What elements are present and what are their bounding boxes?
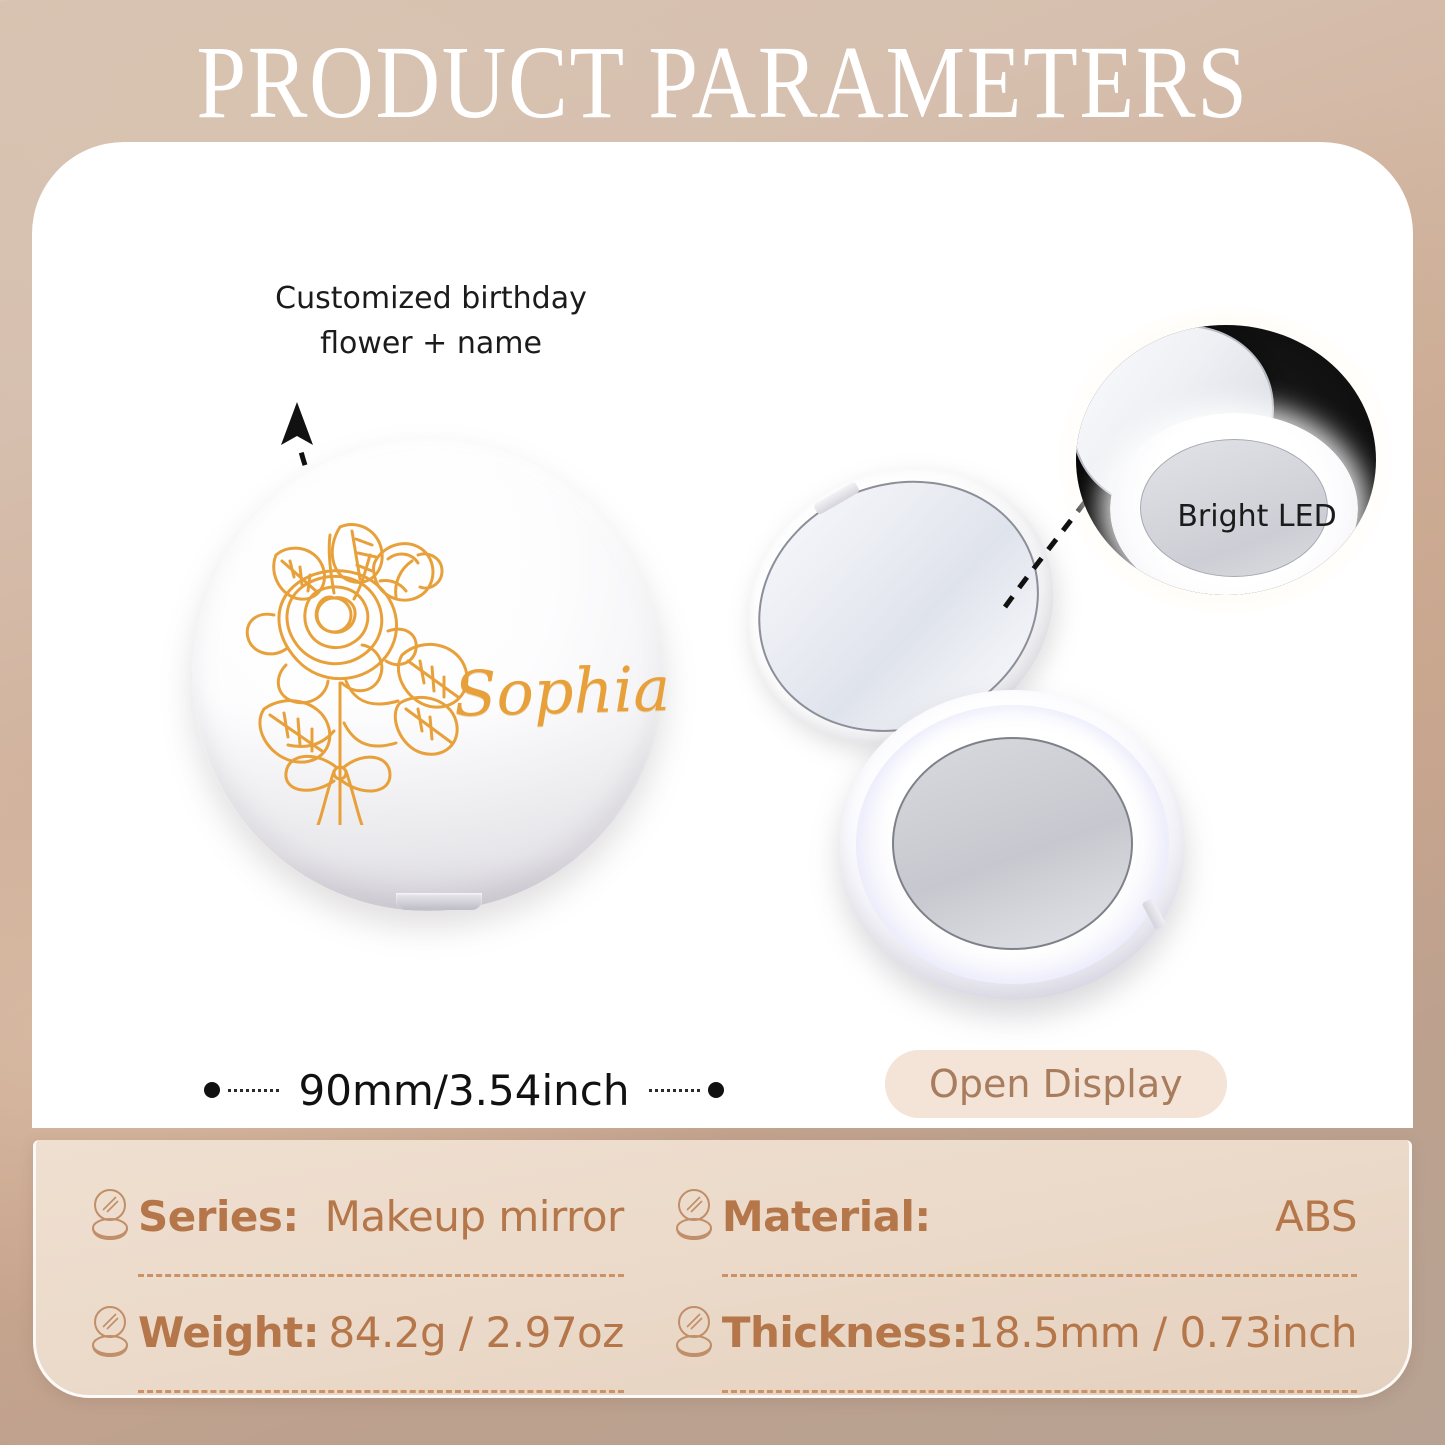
compact-mirror-icon	[672, 1186, 716, 1246]
led-photo-disc	[1076, 325, 1376, 595]
spec-label-thickness: Thickness:	[722, 1308, 968, 1357]
led-ring	[856, 705, 1169, 984]
spec-underline-weight	[138, 1390, 624, 1393]
compact-mirror-icon	[88, 1303, 132, 1363]
compact-mirror-icon	[88, 1186, 132, 1246]
spec-row-material: Material: ABS	[672, 1168, 1357, 1279]
spec-value-material: ABS	[1275, 1192, 1357, 1241]
spec-value-thickness: 18.5mm / 0.73inch	[968, 1308, 1357, 1357]
spec-row-weight: Weight: 84.2g / 2.97oz	[88, 1285, 624, 1396]
dimension-dash-right	[649, 1089, 700, 1092]
dimension-measure: 90mm/3.54inch	[204, 1060, 724, 1120]
product-parameters-infographic: PRODUCT PARAMETERS Customized birthday f…	[0, 0, 1445, 1445]
product-showcase-card: Customized birthday flower + name	[32, 142, 1413, 1128]
open-display-badge: Open Display	[885, 1050, 1227, 1118]
dimension-dot-icon-right	[708, 1082, 724, 1098]
rose-line-art-icon	[230, 495, 490, 825]
callout-bright-led: Bright LED	[1112, 494, 1402, 539]
specs-panel: Series: Makeup mirror Material: ABS	[33, 1140, 1412, 1398]
closed-compact-mirror: Sophia	[192, 439, 664, 911]
base-mirror-glass	[892, 737, 1133, 950]
spec-label-material: Material:	[722, 1192, 931, 1241]
compact-mirror-icon	[672, 1303, 716, 1363]
bright-led-photo	[1076, 325, 1376, 595]
page-title: PRODUCT PARAMETERS	[101, 28, 1344, 137]
callout-flower-line1: Customized birthday	[236, 276, 626, 321]
spec-underline-material	[722, 1274, 1357, 1277]
dimension-dot-icon-left	[204, 1082, 220, 1098]
spec-label-series: Series:	[138, 1192, 299, 1241]
callout-flower-line2: flower + name	[236, 321, 626, 366]
dimension-dash-left	[228, 1089, 279, 1092]
spec-row-thickness: Thickness: 18.5mm / 0.73inch	[672, 1285, 1357, 1396]
callout-customized-flower: Customized birthday flower + name	[236, 276, 626, 366]
engraved-name: Sophia	[453, 658, 655, 725]
spec-label-weight: Weight:	[138, 1308, 319, 1357]
spec-underline-series	[138, 1274, 624, 1277]
mirror-clasp	[396, 893, 482, 910]
spec-value-weight: 84.2g / 2.97oz	[329, 1308, 624, 1357]
spec-value-series: Makeup mirror	[325, 1192, 624, 1241]
mirror-base	[840, 690, 1185, 1000]
spec-row-series: Series: Makeup mirror	[88, 1168, 624, 1279]
dimension-label: 90mm/3.54inch	[287, 1066, 642, 1115]
spec-underline-thickness	[722, 1390, 1357, 1393]
